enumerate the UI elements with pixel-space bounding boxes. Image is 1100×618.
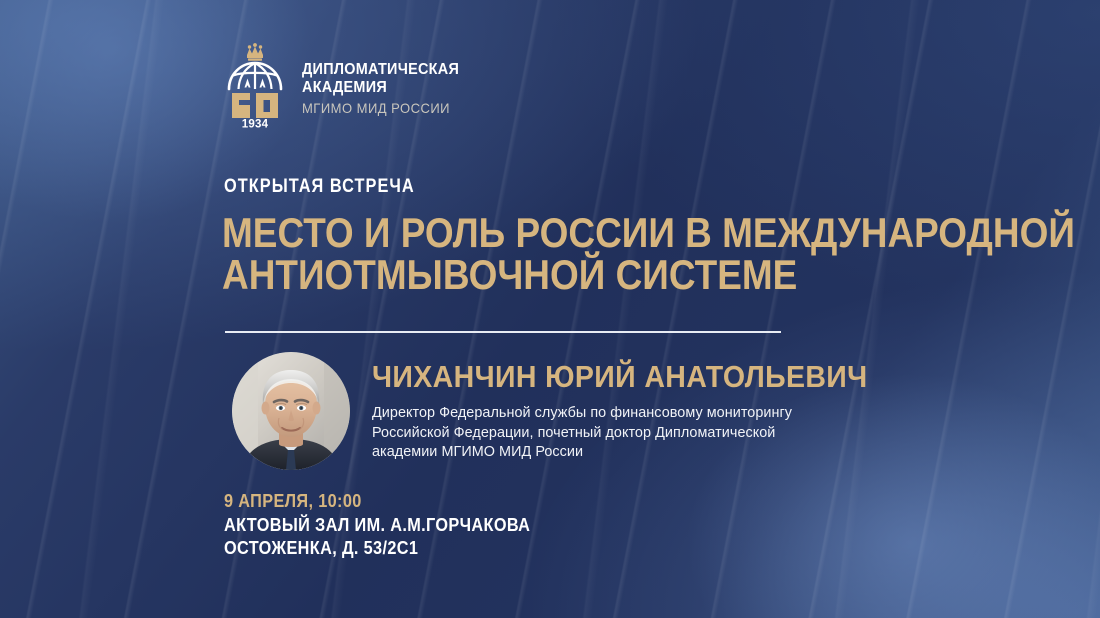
speaker-role-line-3: академии МГИМО МИД России xyxy=(372,443,992,463)
logo-line-2: АКАДЕМИЯ xyxy=(302,79,459,97)
section-divider xyxy=(225,331,781,333)
speaker-name: ЧИХАНЧИН ЮРИЙ АНАТОЛЬЕВИЧ xyxy=(372,360,942,394)
academy-logo-text: ДИПЛОМАТИЧЕСКАЯ АКАДЕМИЯ МГИМО МИД РОССИ… xyxy=(302,57,471,118)
event-date-time: 9 АПРЕЛЯ, 10:00 xyxy=(224,489,530,513)
speaker-avatar xyxy=(232,352,350,470)
speaker-details: ЧИХАНЧИН ЮРИЙ АНАТОЛЬЕВИЧ Директор Федер… xyxy=(372,360,992,463)
event-address: ОСТОЖЕНКА, Д. 53/2С1 xyxy=(224,536,530,560)
speaker-role: Директор Федеральной службы по финансово… xyxy=(372,404,992,463)
speaker-role-line-2: Российской Федерации, почетный доктор Ди… xyxy=(372,424,992,444)
event-type-label: ОТКРЫТАЯ ВСТРЕЧА xyxy=(224,176,415,198)
page-title-line-2: АНТИОТМЫВОЧНОЙ СИСТЕМЕ xyxy=(222,254,1014,296)
logo-line-1: ДИПЛОМАТИЧЕСКАЯ xyxy=(302,61,459,79)
event-venue: АКТОВЫЙ ЗАЛ ИМ. А.М.ГОРЧАКОВА xyxy=(224,513,530,537)
event-announcement-poster: 1934 ДИПЛОМАТИЧЕСКАЯ АКАДЕМИЯ МГИМО МИД … xyxy=(0,0,1100,618)
logo-line-3: МГИМО МИД РОССИИ xyxy=(302,98,459,118)
page-title-line-1: МЕСТО И РОЛЬ РОССИИ В МЕЖДУНАРОДНОЙ xyxy=(222,212,1014,254)
speaker-role-line-1: Директор Федеральной службы по финансово… xyxy=(372,404,992,424)
svg-text:1934: 1934 xyxy=(242,119,269,131)
event-logistics: 9 АПРЕЛЯ, 10:00 АКТОВЫЙ ЗАЛ ИМ. А.М.ГОРЧ… xyxy=(224,489,572,560)
academy-logo: 1934 ДИПЛОМАТИЧЕСКАЯ АКАДЕМИЯ МГИМО МИД … xyxy=(222,42,471,132)
academy-emblem-icon: 1934 xyxy=(222,42,288,132)
page-title: МЕСТО И РОЛЬ РОССИИ В МЕЖДУНАРОДНОЙ АНТИ… xyxy=(222,212,1014,296)
background-glow-bottom-right xyxy=(600,308,1100,618)
